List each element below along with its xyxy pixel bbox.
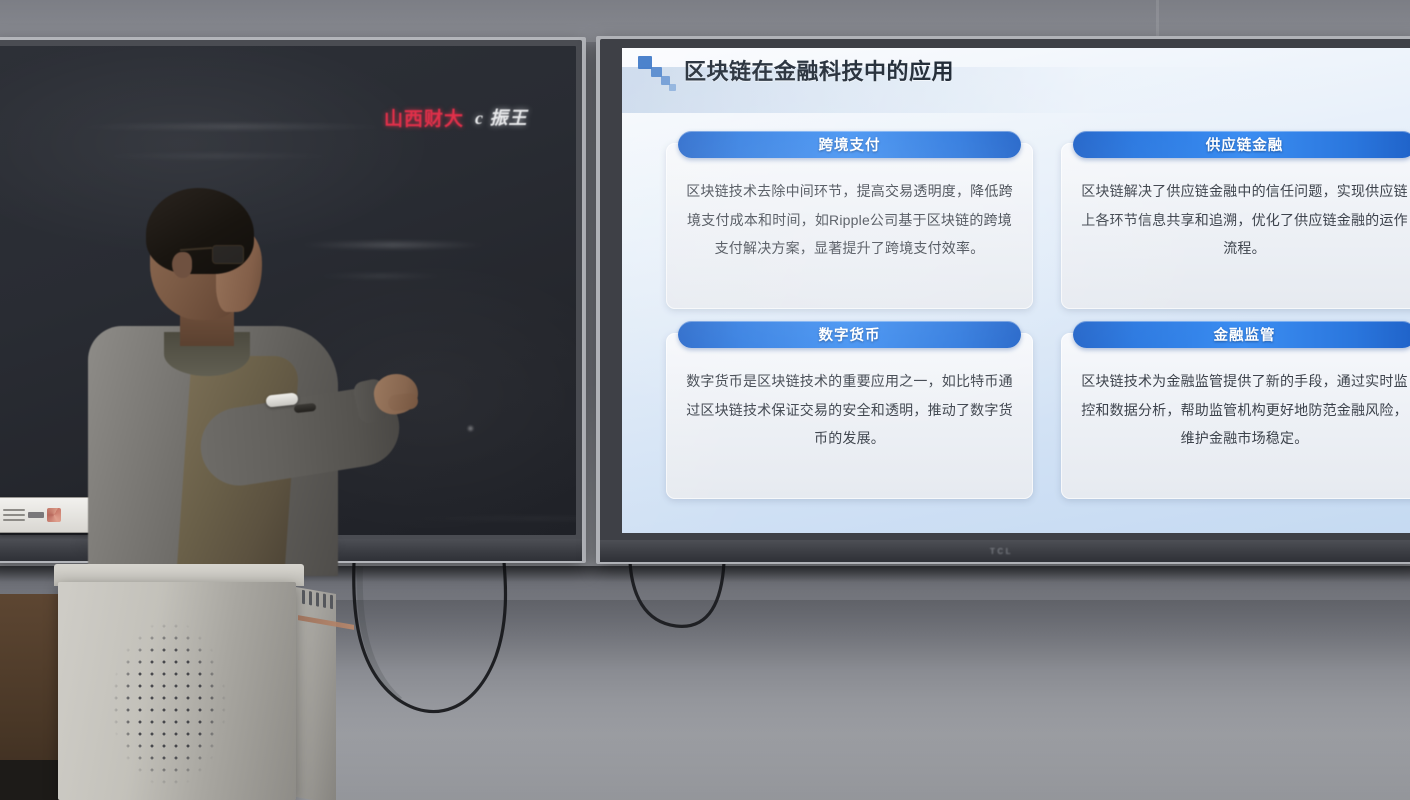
card-header-pill: 金融监管 <box>1073 321 1410 348</box>
control-line <box>3 519 25 521</box>
vent-slot <box>323 593 326 608</box>
lectern <box>54 564 336 800</box>
card-header-pill: 供应链金融 <box>1073 131 1410 158</box>
control-line <box>3 514 25 516</box>
hanging-cables <box>330 560 1090 760</box>
control-panel-logo-icon <box>47 508 61 522</box>
card-body-text: 区块链解决了供应链金融中的信任问题，实现供应链上各环节信息共享和追溯，优化了供应… <box>1077 177 1410 263</box>
lectern-body <box>58 582 296 800</box>
presentation-display[interactable]: 区块链在金融科技中的应用 跨境支付 区块链技术去除中间环节，提高交易透明度，降低… <box>596 36 1410 564</box>
slide-card: 数字货币 数字货币是区块链技术的重要应用之一，如比特币通过区块链技术保证交易的安… <box>666 333 1033 499</box>
glasses-lens <box>212 245 244 264</box>
card-header-pill: 跨境支付 <box>678 131 1021 158</box>
presenter-ear <box>172 252 192 278</box>
slide-card: 金融监管 区块链技术为金融监管提供了新的手段，通过实时监控和数据分析，帮助监管机… <box>1061 333 1410 499</box>
slide-card: 跨境支付 区块链技术去除中间环节，提高交易透明度，降低跨境支付成本和时间，如Ri… <box>666 143 1033 309</box>
speaker-grille-icon <box>110 620 228 788</box>
slide-card: 供应链金融 区块链解决了供应链金融中的信任问题，实现供应链上各环节信息共享和追溯… <box>1061 143 1410 309</box>
vent-slot <box>309 591 312 606</box>
screen-glare <box>68 124 398 129</box>
vent-slot <box>330 595 333 610</box>
vent-slot <box>316 592 319 607</box>
card-body-text: 区块链技术为金融监管提供了新的手段，通过实时监控和数据分析，帮助监管机构更好地防… <box>1077 367 1410 453</box>
bezel-brand-logo: TCL <box>990 547 1013 556</box>
card-header-pill: 数字货币 <box>678 321 1021 348</box>
control-button-1[interactable] <box>28 512 44 518</box>
control-line <box>3 509 25 511</box>
screen-specular-dot <box>468 426 473 431</box>
presenter <box>88 180 418 572</box>
screen-glare <box>93 154 343 158</box>
card-body-text: 数字货币是区块链技术的重要应用之一，如比特币通过区块链技术保证交易的安全和透明，… <box>682 367 1017 453</box>
right-display-bezel: 区块链在金融科技中的应用 跨境支付 区块链技术去除中间环节，提高交易透明度，降低… <box>600 39 1410 542</box>
control-lines <box>3 509 25 521</box>
right-bezel-strip: TCL <box>600 540 1410 562</box>
presenter-glasses-icon <box>206 244 264 264</box>
slide-canvas: 区块链在金融科技中的应用 跨境支付 区块链技术去除中间环节，提高交易透明度，降低… <box>622 48 1410 533</box>
vent-slot <box>302 590 305 605</box>
handwriting-white: c 振王 <box>475 104 528 130</box>
handwriting-red: 山西财大 <box>384 104 464 131</box>
classroom-scene: 山西财大 c 振王 区块链在金融科技中的应用 <box>0 0 1410 800</box>
card-body-text: 区块链技术去除中间环节，提高交易透明度，降低跨境支付成本和时间，如Ripple公… <box>682 177 1017 263</box>
slide-card-grid: 跨境支付 区块链技术去除中间环节，提高交易透明度，降低跨境支付成本和时间，如Ri… <box>666 143 1410 499</box>
presenter-fingers <box>387 392 419 411</box>
slide-title: 区块链在金融科技中的应用 <box>684 48 954 93</box>
